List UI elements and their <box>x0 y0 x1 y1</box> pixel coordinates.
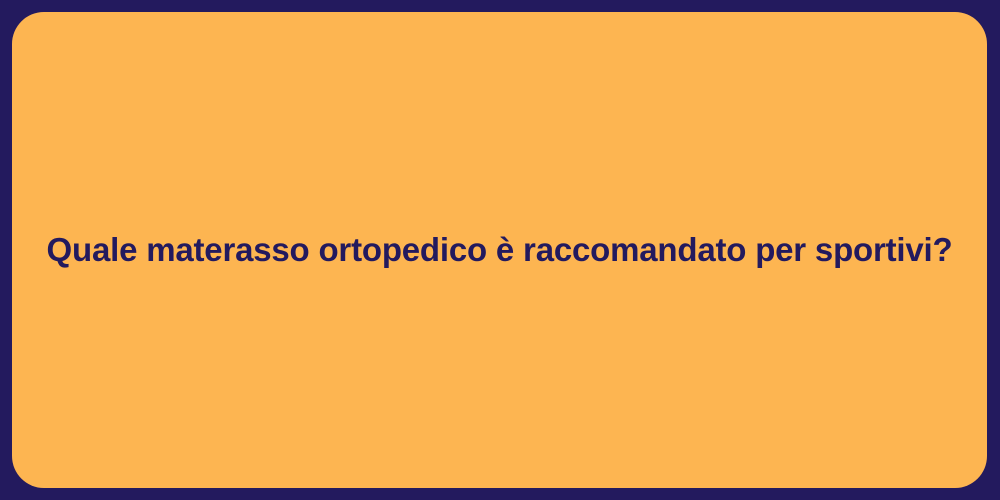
question-title: Quale materasso ortopedico è raccomandat… <box>47 229 953 270</box>
page-frame: Quale materasso ortopedico è raccomandat… <box>0 0 1000 500</box>
question-card: Quale materasso ortopedico è raccomandat… <box>12 12 987 488</box>
